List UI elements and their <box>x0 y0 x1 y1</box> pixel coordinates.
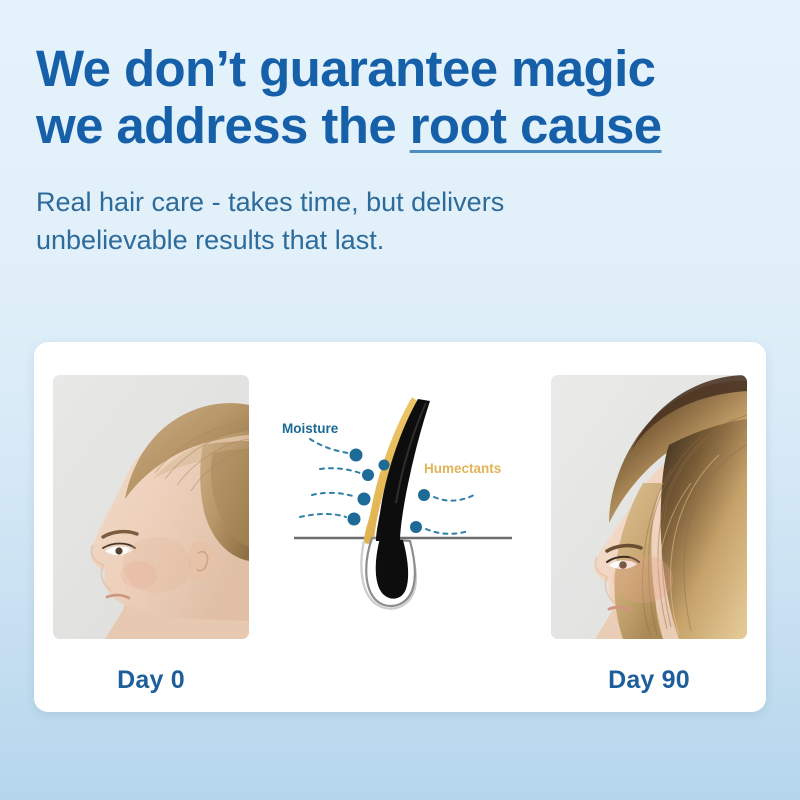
headline-line-1: We don’t guarantee magic <box>36 40 776 97</box>
after-photo <box>551 375 747 639</box>
before-portrait-illustration <box>53 375 249 639</box>
before-photo <box>53 375 249 639</box>
after-pane: Day 90 <box>550 375 748 695</box>
humectants-label: Humectants <box>424 461 501 476</box>
follicle-svg: Moisture Humectants <box>260 383 540 633</box>
headline-emphasis-root-cause: root cause <box>410 97 662 154</box>
subtitle-line-1: Real hair care - takes time, but deliver… <box>36 183 676 221</box>
headline-line-2: we address the root cause <box>36 97 776 154</box>
hair-follicle-diagram: Moisture Humectants <box>260 383 540 633</box>
page-title: We don’t guarantee magic we address the … <box>36 40 776 154</box>
subtitle-line-2: unbelievable results that last. <box>36 221 676 259</box>
moisture-label: Moisture <box>282 421 339 436</box>
comparison-row: Day 0 <box>34 342 766 712</box>
after-portrait-illustration <box>551 375 747 639</box>
before-after-card: Day 0 <box>34 342 766 712</box>
after-label: Day 90 <box>608 666 690 695</box>
before-label: Day 0 <box>117 666 185 695</box>
headline-line-2-prefix: we address the <box>36 97 410 154</box>
humectant-particles <box>410 489 474 534</box>
before-pane: Day 0 <box>52 375 250 695</box>
subtitle: Real hair care - takes time, but deliver… <box>36 183 676 260</box>
follicle-root <box>376 538 408 599</box>
